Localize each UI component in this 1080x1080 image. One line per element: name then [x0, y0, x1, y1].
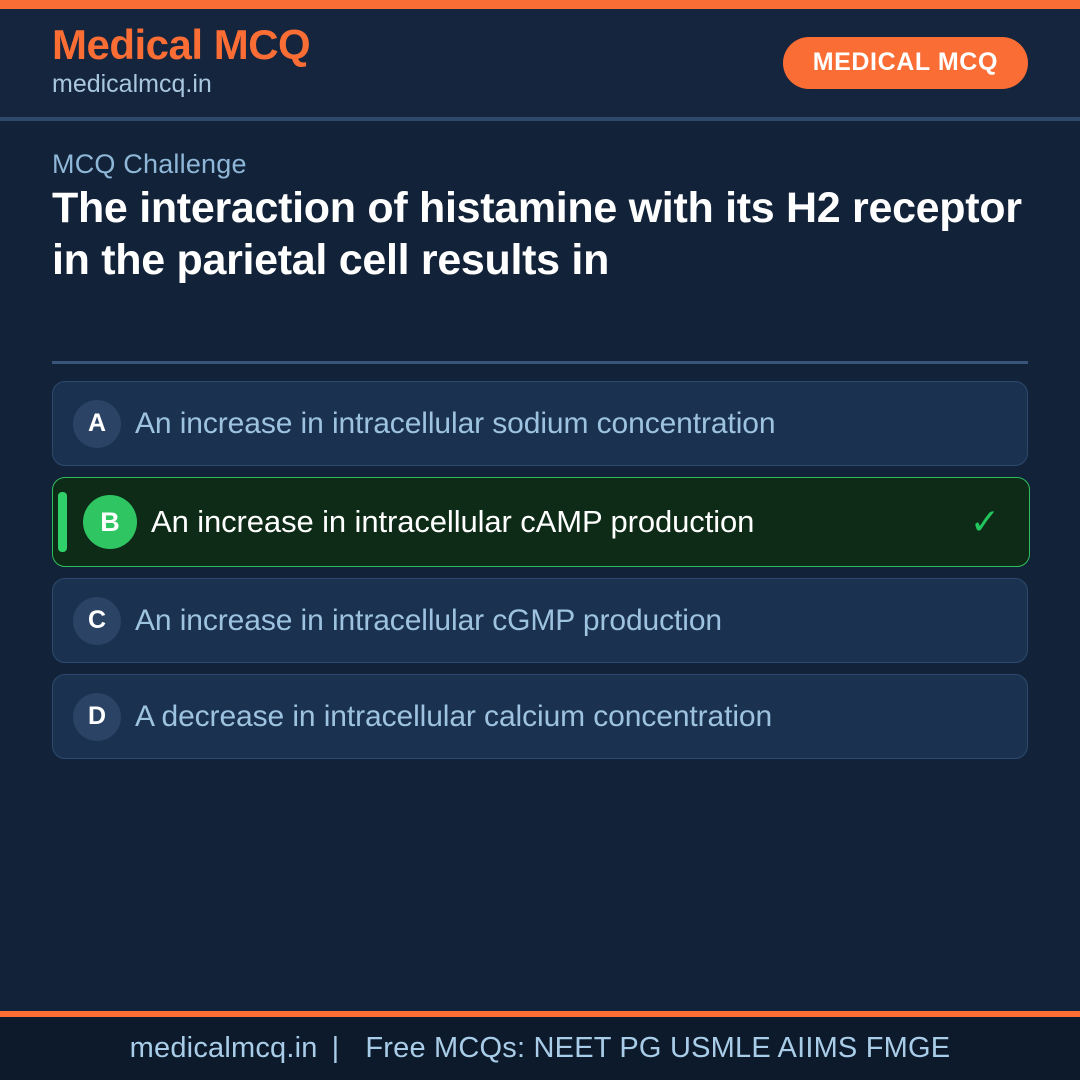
option-row-b[interactable]: B An increase in intracellular cAMP prod…	[52, 477, 1030, 567]
footer-content: medicalmcq.in|Free MCQs: NEET PG USMLE A…	[130, 1032, 951, 1065]
top-accent-bar	[0, 0, 1080, 9]
option-letter-c: C	[73, 597, 121, 645]
option-row-d[interactable]: D A decrease in intracellular calcium co…	[52, 674, 1028, 759]
check-icon-b: ✓	[963, 504, 1007, 540]
option-letter-b: B	[83, 495, 137, 549]
options-list: A An increase in intracellular sodium co…	[52, 381, 1028, 770]
option-letter-a: A	[73, 400, 121, 448]
brand-title: Medical MCQ	[52, 24, 310, 67]
question-text: The interaction of histamine with its H2…	[52, 182, 1032, 287]
option-text-c: An increase in intracellular cGMP produc…	[135, 603, 961, 638]
option-letter-d: D	[73, 693, 121, 741]
brand-url: medicalmcq.in	[52, 69, 310, 100]
brand-block: Medical MCQ medicalmcq.in	[52, 24, 310, 100]
option-text-d: A decrease in intracellular calcium conc…	[135, 699, 961, 734]
footer-separator: |	[318, 1032, 354, 1064]
page-footer: medicalmcq.in|Free MCQs: NEET PG USMLE A…	[0, 1017, 1080, 1080]
kicker-label: MCQ Challenge	[52, 149, 247, 180]
option-row-a[interactable]: A An increase in intracellular sodium co…	[52, 381, 1028, 466]
header-badge: MEDICAL MCQ	[783, 37, 1028, 89]
option-text-b: An increase in intracellular cAMP produc…	[151, 504, 963, 540]
option-text-a: An increase in intracellular sodium conc…	[135, 406, 961, 441]
footer-site: medicalmcq.in	[130, 1032, 318, 1064]
footer-tagline: Free MCQs: NEET PG USMLE AIIMS FMGE	[353, 1032, 950, 1064]
option-row-c[interactable]: C An increase in intracellular cGMP prod…	[52, 578, 1028, 663]
correct-accent-bar	[58, 492, 67, 552]
question-divider	[52, 361, 1028, 364]
page-header: Medical MCQ medicalmcq.in MEDICAL MCQ	[0, 9, 1080, 121]
